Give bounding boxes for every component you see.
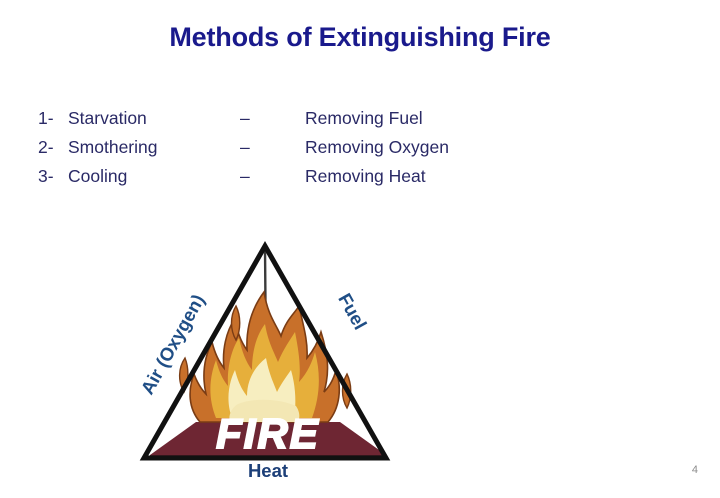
method-name: Smothering bbox=[68, 137, 240, 158]
slide-canvas: Methods of Extinguishing Fire 1- Starvat… bbox=[0, 0, 720, 498]
method-name: Starvation bbox=[68, 108, 240, 129]
method-number: 1- bbox=[38, 108, 68, 129]
list-item: 1- Starvation – Removing Fuel bbox=[38, 108, 449, 137]
method-number: 3- bbox=[38, 166, 68, 187]
method-result: Removing Heat bbox=[305, 166, 426, 187]
list-item: 3- Cooling – Removing Heat bbox=[38, 166, 449, 195]
triangle-label-heat: Heat bbox=[118, 460, 418, 482]
method-separator: – bbox=[240, 166, 305, 187]
list-item: 2- Smothering – Removing Oxygen bbox=[38, 137, 449, 166]
method-result: Removing Oxygen bbox=[305, 137, 449, 158]
method-separator: – bbox=[240, 108, 305, 129]
fire-triangle-diagram: FIRE Air (Oxygen) Fuel Heat bbox=[118, 232, 418, 487]
fire-wordmark: FIRE bbox=[216, 410, 320, 457]
page-number: 4 bbox=[692, 464, 698, 476]
page-title: Methods of Extinguishing Fire bbox=[0, 22, 720, 53]
method-result: Removing Fuel bbox=[305, 108, 423, 129]
methods-list: 1- Starvation – Removing Fuel 2- Smother… bbox=[38, 108, 449, 195]
method-separator: – bbox=[240, 137, 305, 158]
method-name: Cooling bbox=[68, 166, 240, 187]
flame-cluster bbox=[180, 292, 351, 422]
method-number: 2- bbox=[38, 137, 68, 158]
